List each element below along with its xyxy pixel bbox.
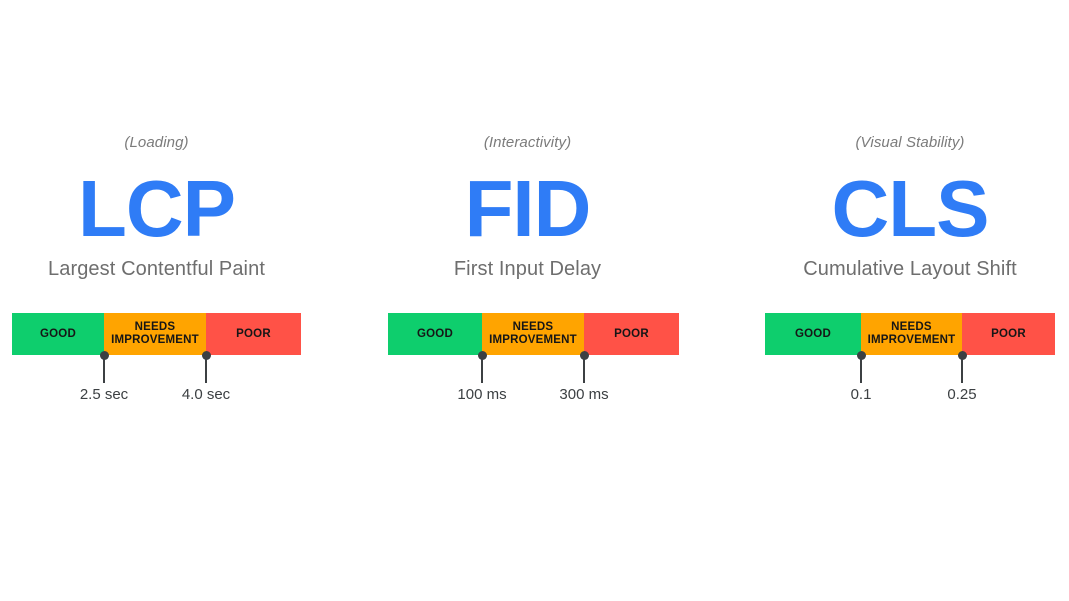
threshold-segment-needs-improvement-label-cls: NEEDS IMPROVEMENT (868, 321, 956, 347)
threshold-segment-good-label-cls: GOOD (795, 328, 831, 341)
threshold-segment-good-cls: GOOD (765, 313, 861, 355)
threshold-segment-poor-fid: POOR (584, 313, 679, 355)
threshold-label-2-cls: 0.25 (947, 385, 976, 404)
threshold-segment-poor-label-fid: POOR (614, 328, 649, 341)
needs-improvement-line-1: NEEDS (513, 321, 554, 333)
threshold-segment-poor-cls: POOR (962, 313, 1055, 355)
threshold-label-2-lcp: 4.0 sec (182, 385, 230, 404)
metric-full-name-cls: Cumulative Layout Shift (753, 256, 1067, 282)
threshold-segment-poor-label-cls: POOR (991, 328, 1026, 341)
threshold-label-2-fid: 300 ms (559, 385, 608, 404)
threshold-label-1-cls: 0.1 (851, 385, 872, 404)
threshold-segment-needs-improvement-lcp: NEEDS IMPROVEMENT (104, 313, 206, 355)
threshold-segment-good-lcp: GOOD (12, 313, 104, 355)
needs-improvement-line-1: NEEDS (135, 321, 176, 333)
threshold-segment-needs-improvement-fid: NEEDS IMPROVEMENT (482, 313, 584, 355)
metric-panel-lcp: (Loading) LCP Largest Contentful Paint G… (0, 0, 313, 601)
threshold-segment-needs-improvement-label-lcp: NEEDS IMPROVEMENT (111, 321, 199, 347)
metric-acronym-cls: CLS (753, 163, 1067, 255)
needs-improvement-line-1: NEEDS (891, 321, 932, 333)
pin-stem-icon (583, 356, 585, 383)
threshold-bar-lcp: GOOD NEEDS IMPROVEMENT POOR 2.5 sec (12, 313, 301, 355)
threshold-segment-good-fid: GOOD (388, 313, 482, 355)
threshold-segment-needs-improvement-label-fid: NEEDS IMPROVEMENT (489, 321, 577, 347)
threshold-segment-good-label-lcp: GOOD (40, 328, 76, 341)
threshold-bar-fid: GOOD NEEDS IMPROVEMENT POOR 100 ms (388, 313, 679, 355)
threshold-segment-poor-label-lcp: POOR (236, 328, 271, 341)
threshold-bar-track-fid: GOOD NEEDS IMPROVEMENT POOR (388, 313, 679, 355)
threshold-bar-cls: GOOD NEEDS IMPROVEMENT POOR 0.1 (765, 313, 1055, 355)
pin-stem-icon (860, 356, 862, 383)
metric-category-caption-fid: (Interactivity) (376, 134, 679, 151)
needs-improvement-line-2: IMPROVEMENT (868, 334, 956, 346)
metric-acronym-fid: FID (376, 163, 679, 255)
metric-panel-cls: (Visual Stability) CLS Cumulative Layout… (753, 0, 1067, 601)
threshold-segment-good-label-fid: GOOD (417, 328, 453, 341)
metric-category-caption-cls: (Visual Stability) (753, 134, 1067, 151)
pin-stem-icon (103, 356, 105, 383)
needs-improvement-line-2: IMPROVEMENT (489, 334, 577, 346)
metric-full-name-lcp: Largest Contentful Paint (0, 256, 313, 282)
threshold-bar-track-lcp: GOOD NEEDS IMPROVEMENT POOR (12, 313, 301, 355)
threshold-segment-needs-improvement-cls: NEEDS IMPROVEMENT (861, 313, 962, 355)
metric-acronym-lcp: LCP (0, 163, 313, 255)
pin-stem-icon (481, 356, 483, 383)
metric-full-name-fid: First Input Delay (376, 256, 679, 282)
needs-improvement-line-2: IMPROVEMENT (111, 334, 199, 346)
threshold-label-1-lcp: 2.5 sec (80, 385, 128, 404)
metric-panel-fid: (Interactivity) FID First Input Delay GO… (376, 0, 679, 601)
threshold-bar-track-cls: GOOD NEEDS IMPROVEMENT POOR (765, 313, 1055, 355)
metric-category-caption-lcp: (Loading) (0, 134, 313, 151)
pin-stem-icon (961, 356, 963, 383)
threshold-segment-poor-lcp: POOR (206, 313, 301, 355)
pin-stem-icon (205, 356, 207, 383)
threshold-label-1-fid: 100 ms (457, 385, 506, 404)
core-web-vitals-infographic: (Loading) LCP Largest Contentful Paint G… (0, 0, 1069, 601)
